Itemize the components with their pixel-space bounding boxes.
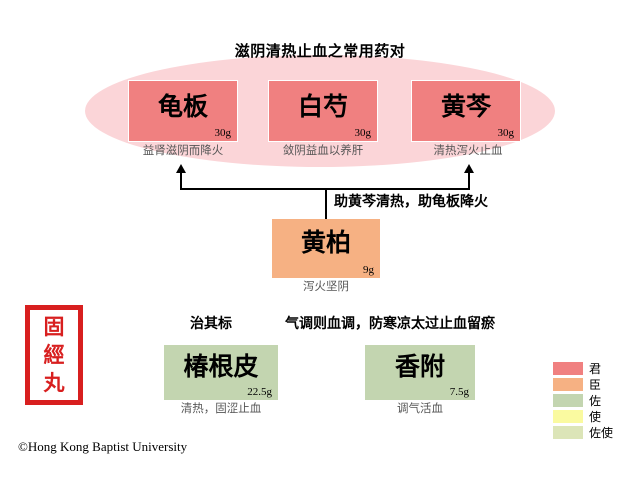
legend-label-jun: 君 bbox=[589, 362, 601, 376]
herb-dose-xiangfu: 7.5g bbox=[450, 386, 469, 399]
connector-center-stem bbox=[325, 188, 327, 220]
herb-name-guiban: 龟板 bbox=[129, 93, 237, 123]
herb-name-chungenpi: 椿根皮 bbox=[164, 353, 278, 383]
herb-box-baishao[interactable]: 白芍 30g bbox=[268, 80, 378, 142]
herb-dose-guiban: 30g bbox=[215, 127, 232, 140]
seal-char-3: 丸 bbox=[44, 369, 65, 397]
herb-function-huangbai: 泻火坚阴 bbox=[266, 280, 386, 295]
legend-item-chen: 臣 bbox=[553, 377, 633, 392]
herb-function-guiban: 益肾滋阴而降火 bbox=[108, 144, 258, 159]
herb-name-baishao: 白芍 bbox=[269, 93, 377, 123]
legend-item-jun: 君 bbox=[553, 361, 633, 376]
herb-box-huangqin[interactable]: 黄芩 30g bbox=[411, 80, 521, 142]
herb-dose-huangbai: 9g bbox=[363, 264, 374, 277]
legend-item-zuo: 佐 bbox=[553, 393, 633, 408]
herb-function-chungenpi: 清热，固涩止血 bbox=[155, 402, 287, 417]
legend-label-shi: 使 bbox=[589, 410, 601, 424]
legend-label-chen: 臣 bbox=[589, 378, 601, 392]
legend-swatch-chen bbox=[553, 378, 583, 391]
herb-name-huangbai: 黄柏 bbox=[272, 229, 380, 259]
seal-char-2: 經 bbox=[44, 341, 65, 369]
annotation-middle: 助黄芩清热，助龟板降火 bbox=[334, 194, 488, 212]
legend-swatch-jun bbox=[553, 362, 583, 375]
legend-label-zuoshi: 佐使 bbox=[589, 426, 613, 440]
herb-function-baishao: 敛阴益血以养肝 bbox=[248, 144, 398, 159]
diagram-canvas: 滋阴清热止血之常用药对 龟板 30g 益肾滋阴而降火 白芍 30g 敛阴益血以养… bbox=[0, 0, 640, 480]
legend-swatch-zuo bbox=[553, 394, 583, 407]
copyright-notice: ©Hong Kong Baptist University bbox=[18, 438, 187, 455]
herb-function-xiangfu: 调气活血 bbox=[365, 402, 475, 417]
seal-char-1: 固 bbox=[44, 313, 65, 341]
herb-dose-huangqin: 30g bbox=[498, 127, 515, 140]
herb-box-xiangfu[interactable]: 香附 7.5g bbox=[365, 345, 475, 400]
legend-swatch-zuoshi bbox=[553, 426, 583, 439]
herb-name-huangqin: 黄芩 bbox=[412, 93, 520, 123]
herb-function-huangqin: 清热泻火止血 bbox=[398, 144, 538, 159]
herb-dose-chungenpi: 22.5g bbox=[247, 386, 272, 399]
herb-box-huangbai[interactable]: 黄柏 9g bbox=[272, 219, 380, 278]
group-title: 滋阴清热止血之常用药对 bbox=[85, 42, 555, 62]
herb-name-xiangfu: 香附 bbox=[365, 353, 475, 383]
herb-box-chungenpi[interactable]: 椿根皮 22.5g bbox=[164, 345, 278, 400]
herb-box-guiban[interactable]: 龟板 30g bbox=[128, 80, 238, 142]
legend-swatch-shi bbox=[553, 410, 583, 423]
herb-dose-baishao: 30g bbox=[355, 127, 372, 140]
legend-item-zuoshi: 佐使 bbox=[553, 425, 633, 440]
annotation-bottom-right: 气调则血调，防寒凉太过止血留瘀 bbox=[285, 316, 495, 334]
connector-right-riser bbox=[468, 172, 470, 190]
legend-label-zuo: 佐 bbox=[589, 394, 601, 408]
annotation-bottom-left: 治其标 bbox=[190, 316, 232, 334]
legend-item-shi: 使 bbox=[553, 409, 633, 424]
role-legend: 君 臣 佐 使 佐使 bbox=[553, 361, 633, 441]
formula-seal: 固 經 丸 bbox=[25, 305, 83, 405]
